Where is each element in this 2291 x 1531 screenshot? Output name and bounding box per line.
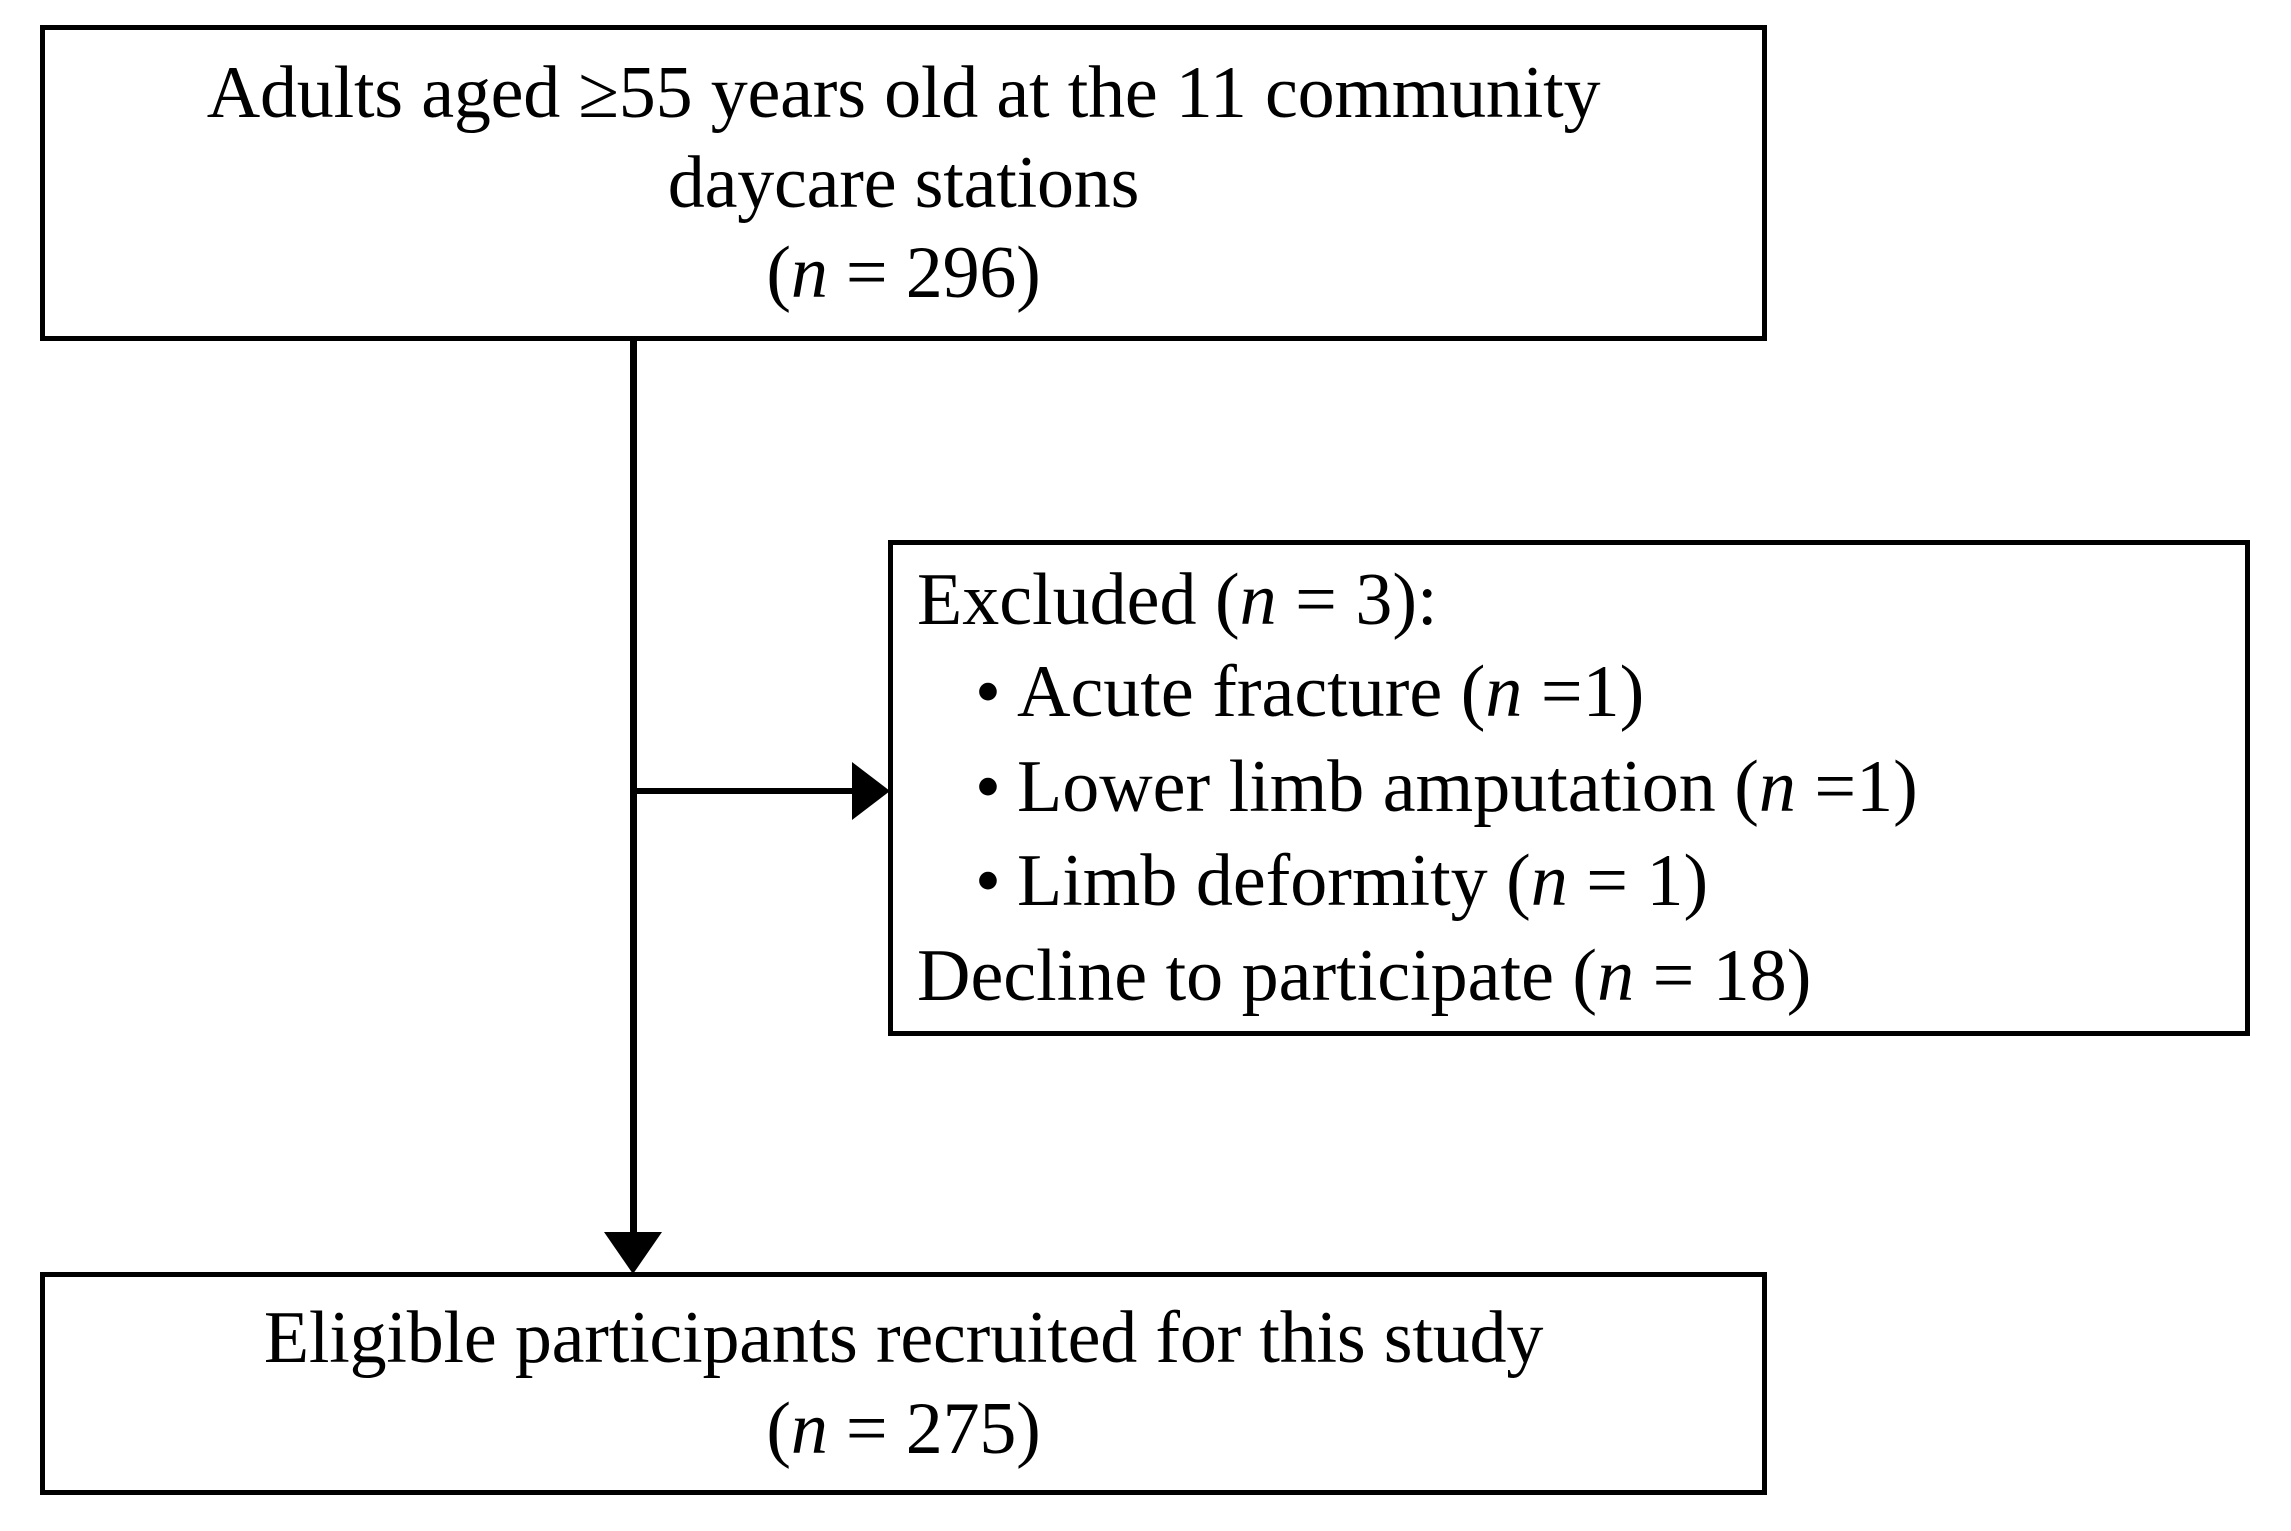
flow-diagram-canvas: Adults aged ≥55 years old at the 11 comm… xyxy=(0,0,2291,1531)
eligible-participants-box: Eligible participants recruited for this… xyxy=(40,1272,1767,1495)
excluded-heading-equals: = xyxy=(1277,559,1356,641)
excluded-item-equals: = xyxy=(1568,840,1647,922)
source-count-open-paren: ( xyxy=(766,232,790,314)
bullet-icon: • xyxy=(975,740,1001,835)
decline-equals: = xyxy=(1634,935,1713,1017)
excluded-box: Excluded (n = 3): •Acute fracture (n =1)… xyxy=(888,540,2250,1036)
arrow-right-icon xyxy=(852,762,890,820)
eligible-count-close-paren: ) xyxy=(1016,1388,1040,1470)
excluded-item-symbol: n xyxy=(1759,746,1796,828)
excluded-item-label: Acute fracture ( xyxy=(1017,651,1485,733)
arrow-down-icon xyxy=(604,1232,662,1274)
source-line-1: Adults aged ≥55 years old at the 11 comm… xyxy=(207,48,1601,138)
excluded-item-value: 1 xyxy=(1647,840,1684,922)
eligible-count-open-paren: ( xyxy=(766,1388,790,1470)
decline-value: 18 xyxy=(1713,935,1787,1017)
excluded-item-label: Limb deformity ( xyxy=(1017,840,1531,922)
decline-suffix: ) xyxy=(1787,935,1812,1017)
excluded-item-label: Lower limb amputation ( xyxy=(1017,746,1759,828)
source-line-2: daycare stations xyxy=(668,138,1139,228)
excluded-item-equals: = xyxy=(1522,651,1582,733)
excluded-item-equals: = xyxy=(1796,746,1856,828)
excluded-item-value: 1 xyxy=(1856,746,1893,828)
excluded-heading-prefix: Excluded ( xyxy=(917,559,1240,641)
list-item: •Lower limb amputation (n =1) xyxy=(917,740,1918,835)
source-count-line: (n = 296) xyxy=(766,228,1040,318)
decline-prefix: Decline to participate ( xyxy=(917,935,1597,1017)
bullet-icon: • xyxy=(975,645,1001,740)
branch-horizontal-line xyxy=(630,788,858,794)
excluded-reason-list: •Acute fracture (n =1) •Lower limb amput… xyxy=(917,645,1918,929)
eligible-line-1: Eligible participants recruited for this… xyxy=(264,1293,1543,1383)
eligible-count-value: 275 xyxy=(906,1388,1016,1470)
eligible-count-line: (n = 275) xyxy=(766,1384,1040,1474)
excluded-item-symbol: n xyxy=(1531,840,1568,922)
source-count-close-paren: ) xyxy=(1016,232,1040,314)
eligible-count-equals: = xyxy=(828,1388,906,1470)
excluded-item-symbol: n xyxy=(1485,651,1522,733)
excluded-item-suffix: ) xyxy=(1684,840,1709,922)
excluded-heading-symbol: n xyxy=(1240,559,1277,641)
excluded-heading: Excluded (n = 3): xyxy=(917,555,1438,645)
source-count-symbol: n xyxy=(791,232,828,314)
list-item: •Acute fracture (n =1) xyxy=(917,645,1918,740)
excluded-item-value: 1 xyxy=(1583,651,1620,733)
decline-symbol: n xyxy=(1597,935,1634,1017)
list-item: •Limb deformity (n = 1) xyxy=(917,834,1918,929)
excluded-item-suffix: ) xyxy=(1620,651,1645,733)
excluded-heading-value: 3 xyxy=(1355,559,1392,641)
source-count-value: 296 xyxy=(906,232,1016,314)
excluded-heading-suffix: ): xyxy=(1392,559,1437,641)
bullet-icon: • xyxy=(975,834,1001,929)
source-count-equals: = xyxy=(828,232,906,314)
eligible-count-symbol: n xyxy=(791,1388,828,1470)
source-population-box: Adults aged ≥55 years old at the 11 comm… xyxy=(40,25,1767,341)
decline-to-participate-line: Decline to participate (n = 18) xyxy=(917,931,1811,1021)
excluded-item-suffix: ) xyxy=(1893,746,1918,828)
